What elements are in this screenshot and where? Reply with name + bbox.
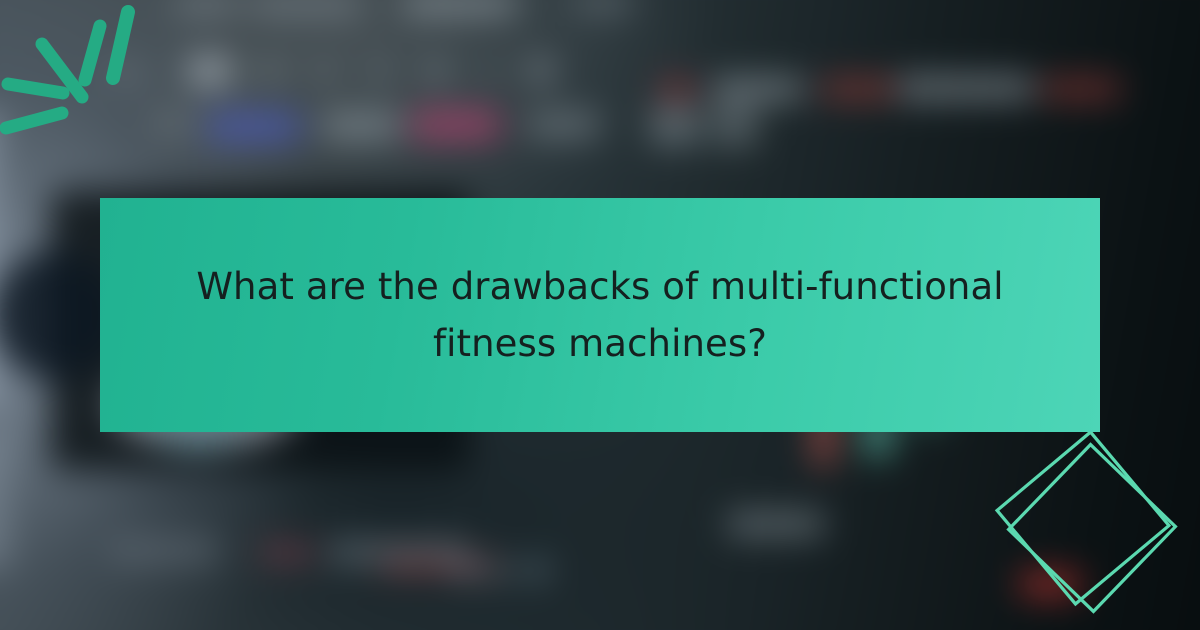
bg-icon-button bbox=[315, 62, 335, 82]
bg-icon-button bbox=[260, 60, 284, 82]
bg-timeline-clip bbox=[260, 542, 314, 564]
rotated-squares-icon bbox=[976, 409, 1200, 630]
banner-question-text: What are the drawbacks of multi-function… bbox=[185, 258, 1015, 373]
bg-timeline-dot bbox=[490, 560, 510, 580]
bg-sidebar-panel bbox=[0, 430, 10, 570]
bg-status-chip bbox=[898, 76, 1034, 100]
bg-tool-chip bbox=[712, 106, 758, 146]
bg-status-chip bbox=[712, 78, 804, 100]
bg-icon-button bbox=[188, 56, 232, 86]
bg-timeline-label bbox=[728, 512, 824, 536]
poster-canvas: What are the drawbacks of multi-function… bbox=[0, 0, 1200, 630]
sparkle-burst-icon bbox=[0, 0, 190, 165]
bg-tool-chip bbox=[528, 112, 600, 138]
bg-status-chip-red bbox=[660, 78, 694, 100]
bg-tool-chip-pink bbox=[412, 110, 500, 140]
bg-icon-button bbox=[528, 58, 554, 84]
bg-menu-chip bbox=[575, 0, 633, 12]
bg-icon-button bbox=[485, 64, 499, 82]
bg-icon-button bbox=[370, 62, 390, 82]
bg-tool-chip bbox=[650, 106, 700, 146]
question-banner: What are the drawbacks of multi-function… bbox=[100, 198, 1100, 432]
bg-tool-chip-blue bbox=[208, 112, 300, 142]
bg-menu-chip bbox=[405, 0, 517, 14]
bg-menu-chip bbox=[250, 0, 360, 14]
bg-timeline-dot bbox=[456, 560, 476, 580]
bg-status-chip-red bbox=[822, 78, 894, 100]
bg-timeline-clip bbox=[110, 538, 220, 564]
bg-tool-chip bbox=[322, 112, 400, 140]
bg-timeline-clip-red bbox=[380, 558, 495, 574]
bg-icon-button bbox=[425, 60, 449, 82]
bg-timeline-dot bbox=[526, 560, 548, 580]
bg-status-chip-red bbox=[1042, 78, 1120, 100]
